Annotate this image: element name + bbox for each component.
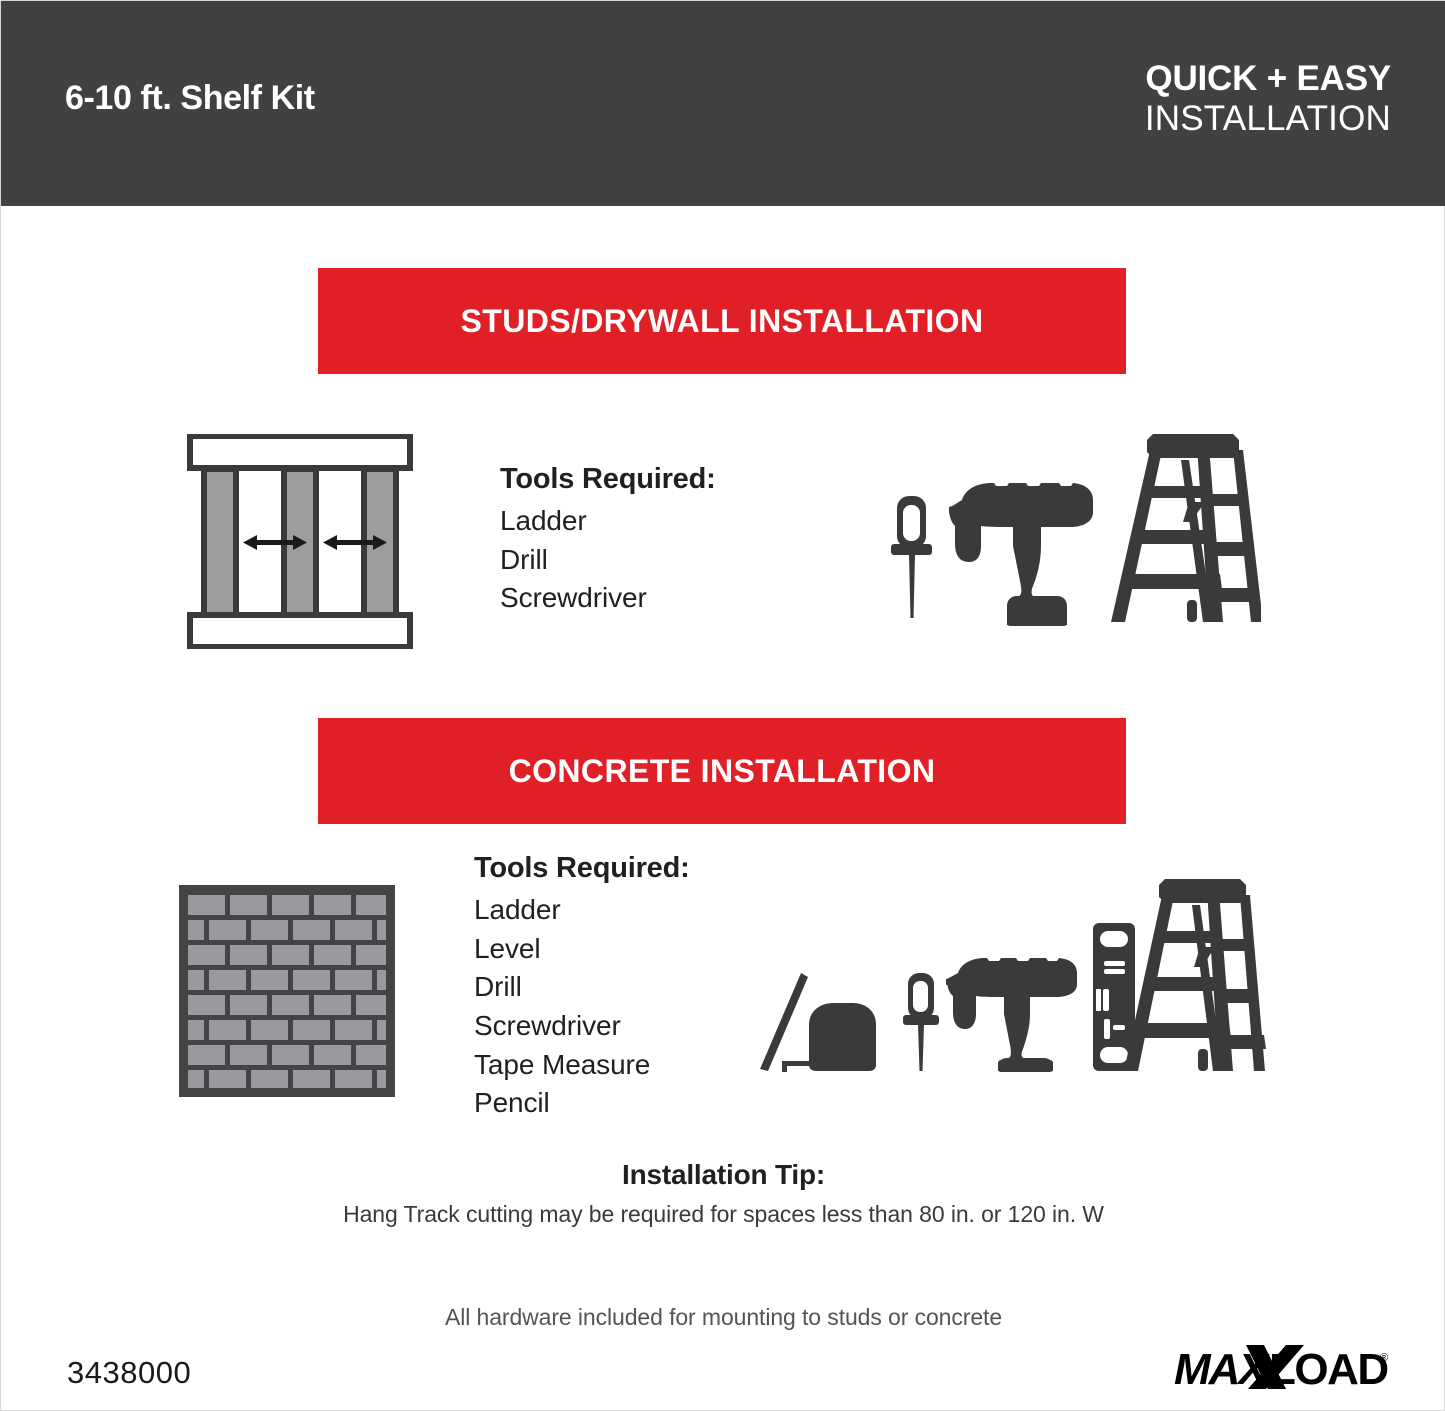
- ladder-icon: [1124, 879, 1266, 1071]
- section-banner-studs: STUDS/DRYWALL INSTALLATION: [318, 268, 1126, 374]
- tool-item: Pencil: [474, 1084, 690, 1123]
- tool-item: Screwdriver: [500, 579, 716, 618]
- part-number: 3438000: [67, 1355, 191, 1391]
- installation-tip-body: Hang Track cutting may be required for s…: [1, 1201, 1445, 1228]
- tool-item: Ladder: [500, 502, 716, 541]
- tool-item: Drill: [474, 968, 690, 1007]
- maxload-registered-mark: ®: [1380, 1352, 1388, 1364]
- tagline-line-2: INSTALLATION: [1145, 101, 1391, 137]
- tools-list-concrete: Tools Required: Ladder Level Drill Screw…: [474, 852, 690, 1123]
- tool-icons-concrete: [746, 873, 1266, 1085]
- section-banner-concrete-label: CONCRETE INSTALLATION: [509, 753, 936, 790]
- maxload-logo: MAX LOAD ®: [1174, 1341, 1389, 1396]
- stud-wall-diagram: [187, 434, 413, 649]
- screwdriver-icon: [903, 973, 939, 1071]
- installation-tip-title: Installation Tip:: [1, 1159, 1445, 1191]
- section-banner-studs-label: STUDS/DRYWALL INSTALLATION: [461, 303, 984, 340]
- header-tagline: QUICK + EASY INSTALLATION: [1145, 61, 1391, 136]
- tape-measure-icon: [782, 1003, 876, 1072]
- ladder-icon: [1111, 434, 1261, 622]
- drill-icon: [946, 958, 1077, 1072]
- drill-icon: [949, 483, 1093, 626]
- header-bar: 6-10 ft. Shelf Kit QUICK + EASY INSTALLA…: [1, 1, 1445, 206]
- brick-wall-diagram: [179, 885, 395, 1097]
- tagline-line-1: QUICK + EASY: [1145, 61, 1391, 97]
- installation-tip: Installation Tip: Hang Track cutting may…: [1, 1159, 1445, 1228]
- section-banner-concrete: CONCRETE INSTALLATION: [318, 718, 1126, 824]
- screwdriver-icon: [891, 496, 932, 618]
- tool-item: Tape Measure: [474, 1046, 690, 1085]
- tool-item: Level: [474, 930, 690, 969]
- tool-item: Screwdriver: [474, 1007, 690, 1046]
- tool-icons-studs: [861, 426, 1261, 641]
- tools-heading-studs: Tools Required:: [500, 463, 716, 496]
- level-icon: [1093, 923, 1135, 1071]
- tool-item: Ladder: [474, 891, 690, 930]
- tools-list-studs: Tools Required: Ladder Drill Screwdriver: [500, 463, 716, 618]
- tools-heading-concrete: Tools Required:: [474, 852, 690, 885]
- page-title: 6-10 ft. Shelf Kit: [65, 79, 315, 118]
- tool-item: Drill: [500, 541, 716, 580]
- pencil-icon: [760, 973, 808, 1071]
- instruction-sheet: 6-10 ft. Shelf Kit QUICK + EASY INSTALLA…: [0, 0, 1445, 1411]
- hardware-note: All hardware included for mounting to st…: [1, 1304, 1445, 1331]
